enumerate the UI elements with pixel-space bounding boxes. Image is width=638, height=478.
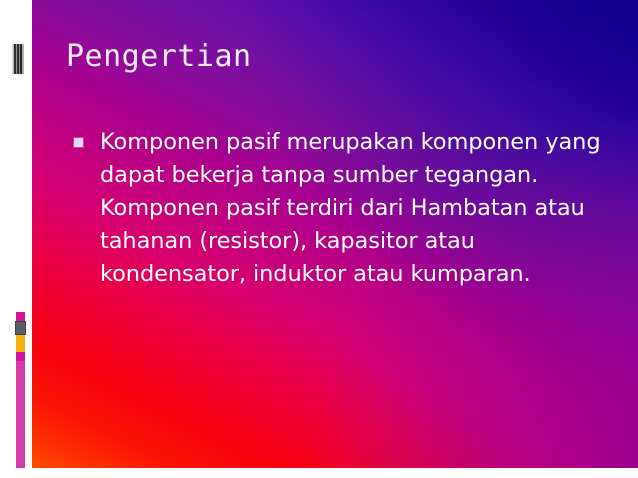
list-item: Komponen pasif merupakan komponen yang d…	[72, 126, 617, 291]
rail-dark-box-icon	[15, 321, 26, 335]
bottom-margin-band	[0, 468, 638, 478]
rail-yellow-segment	[16, 335, 25, 352]
slide-body: Komponen pasif merupakan komponen yang d…	[72, 126, 617, 291]
list-item-label: Komponen pasif merupakan komponen yang d…	[100, 126, 617, 291]
slide-title: Pengertian	[66, 38, 606, 76]
rail-magenta-top-segment	[16, 312, 25, 321]
striped-bar-icon	[12, 44, 24, 74]
presentation-slide: Pengertian Komponen pasif merupakan komp…	[0, 0, 638, 478]
square-bullet-icon	[74, 138, 83, 147]
rail-magenta-mid-segment	[16, 352, 25, 361]
